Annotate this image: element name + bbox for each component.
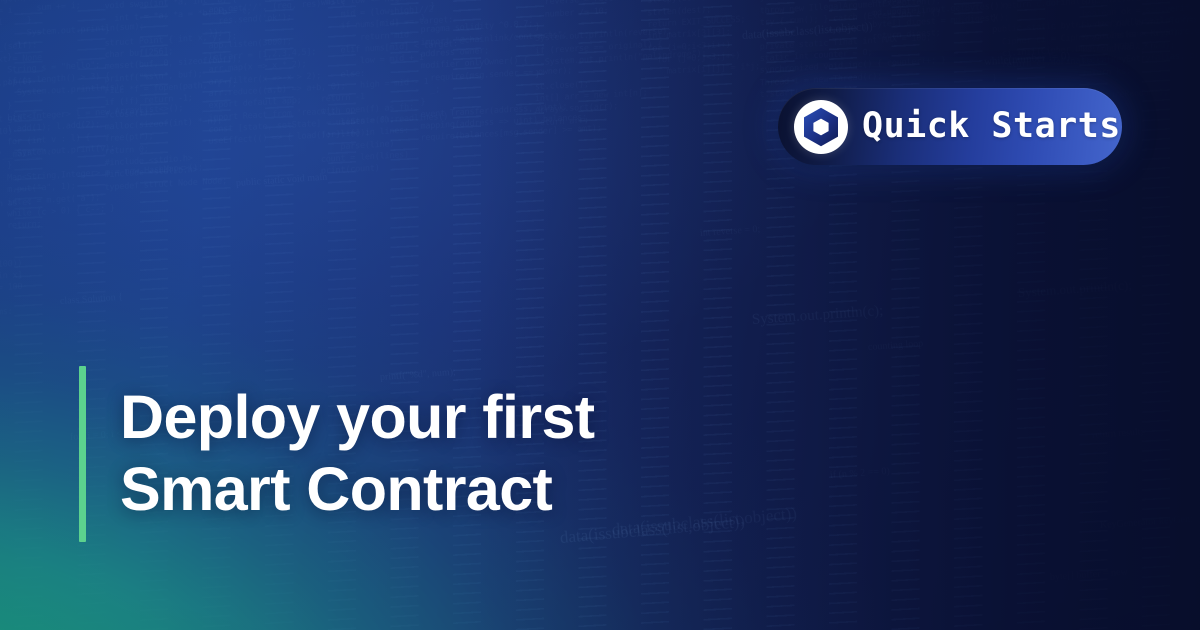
quickstarts-badge[interactable]: Quick Starts [778,88,1122,165]
quickstarts-banner: def solve(n): total = 0 for i in range(n… [0,0,1200,630]
page-title: Deploy your first Smart Contract [120,382,595,526]
chainlink-hexagon-icon [794,100,848,154]
headline-block: Deploy your first Smart Contract [79,366,595,542]
quickstarts-badge-label: Quick Starts [862,109,1121,144]
page-title-line-1: Deploy your first [120,382,595,454]
accent-bar [79,366,86,542]
page-title-line-2: Smart Contract [120,454,595,526]
